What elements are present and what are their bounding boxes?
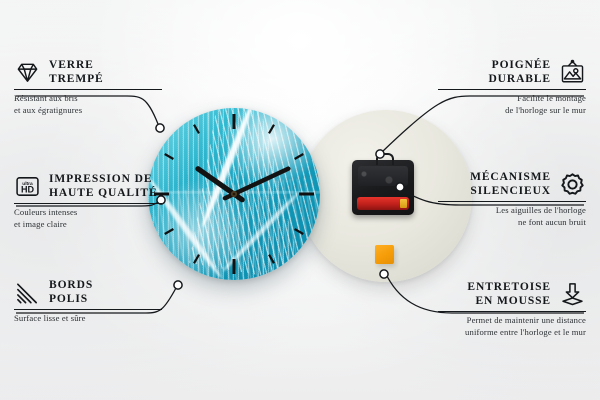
feature-desc-line2: et image claire xyxy=(14,219,162,231)
feature-poignee-durable: POIGNÉE DURABLE Facilite le montage de l… xyxy=(438,58,586,117)
connector-dot-entretoise xyxy=(380,270,388,278)
connector-dot-verre xyxy=(156,124,164,132)
feature-header: BORDS POLIS xyxy=(14,278,162,306)
feature-desc-line1: Résistant aux bris xyxy=(14,93,162,105)
feature-rule xyxy=(14,203,162,204)
feature-title-line2: EN MOUSSE xyxy=(467,294,551,308)
connector-dot-poignee xyxy=(376,150,384,158)
feature-description: Facilite le montage de l'horloge sur le … xyxy=(438,93,586,117)
feature-title: MÉCANISME SILENCIEUX xyxy=(470,170,551,198)
feature-desc-line2: et aux égratignures xyxy=(14,105,162,117)
feature-desc-line2: uniforme entre l'horloge et le mur xyxy=(438,327,586,339)
feature-desc-line1: Facilite le montage xyxy=(438,93,586,105)
feature-title-line2: TREMPÉ xyxy=(49,72,104,86)
feature-description: Résistant aux bris et aux égratignures xyxy=(14,93,162,117)
feature-title: IMPRESSION DE HAUTE QUALITÉ xyxy=(49,172,158,200)
feature-title-line1: VERRE xyxy=(49,58,104,72)
feature-rule xyxy=(14,309,162,310)
feature-header: ENTRETOISE EN MOUSSE xyxy=(438,280,586,308)
feature-title-line1: POIGNÉE xyxy=(488,58,551,72)
ultra-hd-badge-icon: ultra HD xyxy=(14,173,41,200)
hanging-frame-icon xyxy=(559,59,586,86)
feature-header: MÉCANISME SILENCIEUX xyxy=(438,170,586,198)
feature-impression-haute-qualite: ultra HD IMPRESSION DE HAUTE QUALITÉ Cou… xyxy=(14,172,162,231)
feature-header: POIGNÉE DURABLE xyxy=(438,58,586,86)
feature-desc-line1: Les aiguilles de l'horloge xyxy=(438,205,586,217)
feature-header: VERRE TREMPÉ xyxy=(14,58,162,86)
feature-title: ENTRETOISE EN MOUSSE xyxy=(467,280,551,308)
feature-desc-line2: de l'horloge sur le mur xyxy=(438,105,586,117)
feature-verre-trempe: VERRE TREMPÉ Résistant aux bris et aux é… xyxy=(14,58,162,117)
feature-description: Les aiguilles de l'horloge ne font aucun… xyxy=(438,205,586,229)
connector-dot-bords xyxy=(174,281,182,289)
feature-title-line2: DURABLE xyxy=(488,72,551,86)
gear-icon xyxy=(559,171,586,198)
feature-title: VERRE TREMPÉ xyxy=(49,58,104,86)
foam-spacer-arrow-icon xyxy=(559,281,586,308)
feature-entretoise-en-mousse: ENTRETOISE EN MOUSSE Permet de maintenir… xyxy=(438,280,586,339)
feature-description: Surface lisse et sûre xyxy=(14,313,162,325)
diamond-icon xyxy=(14,59,41,86)
connector-dot-mecanisme xyxy=(396,183,404,191)
feature-rule xyxy=(438,201,586,202)
feature-title: BORDS POLIS xyxy=(49,278,93,306)
feature-rule xyxy=(14,89,162,90)
feature-desc-line1: Couleurs intenses xyxy=(14,207,162,219)
feature-bords-polis: BORDS POLIS Surface lisse et sûre xyxy=(14,278,162,325)
feature-rule xyxy=(438,311,586,312)
feature-description: Permet de maintenir une distance uniform… xyxy=(438,315,586,339)
feature-title-line1: IMPRESSION DE xyxy=(49,172,158,186)
feature-title-line1: MÉCANISME xyxy=(470,170,551,184)
feature-title-line2: HAUTE QUALITÉ xyxy=(49,186,158,200)
feature-title-line1: ENTRETOISE xyxy=(467,280,551,294)
infographic-canvas: VERRE TREMPÉ Résistant aux bris et aux é… xyxy=(0,0,600,400)
polished-edge-lines-icon xyxy=(14,279,41,306)
feature-mecanisme-silencieux: MÉCANISME SILENCIEUX Les aiguilles de l'… xyxy=(438,170,586,229)
feature-header: ultra HD IMPRESSION DE HAUTE QUALITÉ xyxy=(14,172,162,200)
feature-title-line2: SILENCIEUX xyxy=(470,184,551,198)
feature-description: Couleurs intenses et image claire xyxy=(14,207,162,231)
feature-desc-line1: Permet de maintenir une distance xyxy=(438,315,586,327)
feature-title: POIGNÉE DURABLE xyxy=(488,58,551,86)
ultra-hd-icon-bottom-text: HD xyxy=(21,184,35,194)
feature-title-line2: POLIS xyxy=(49,292,93,306)
feature-rule xyxy=(438,89,586,90)
feature-desc-line1: Surface lisse et sûre xyxy=(14,313,162,325)
feature-title-line1: BORDS xyxy=(49,278,93,292)
feature-desc-line2: ne font aucun bruit xyxy=(438,217,586,229)
